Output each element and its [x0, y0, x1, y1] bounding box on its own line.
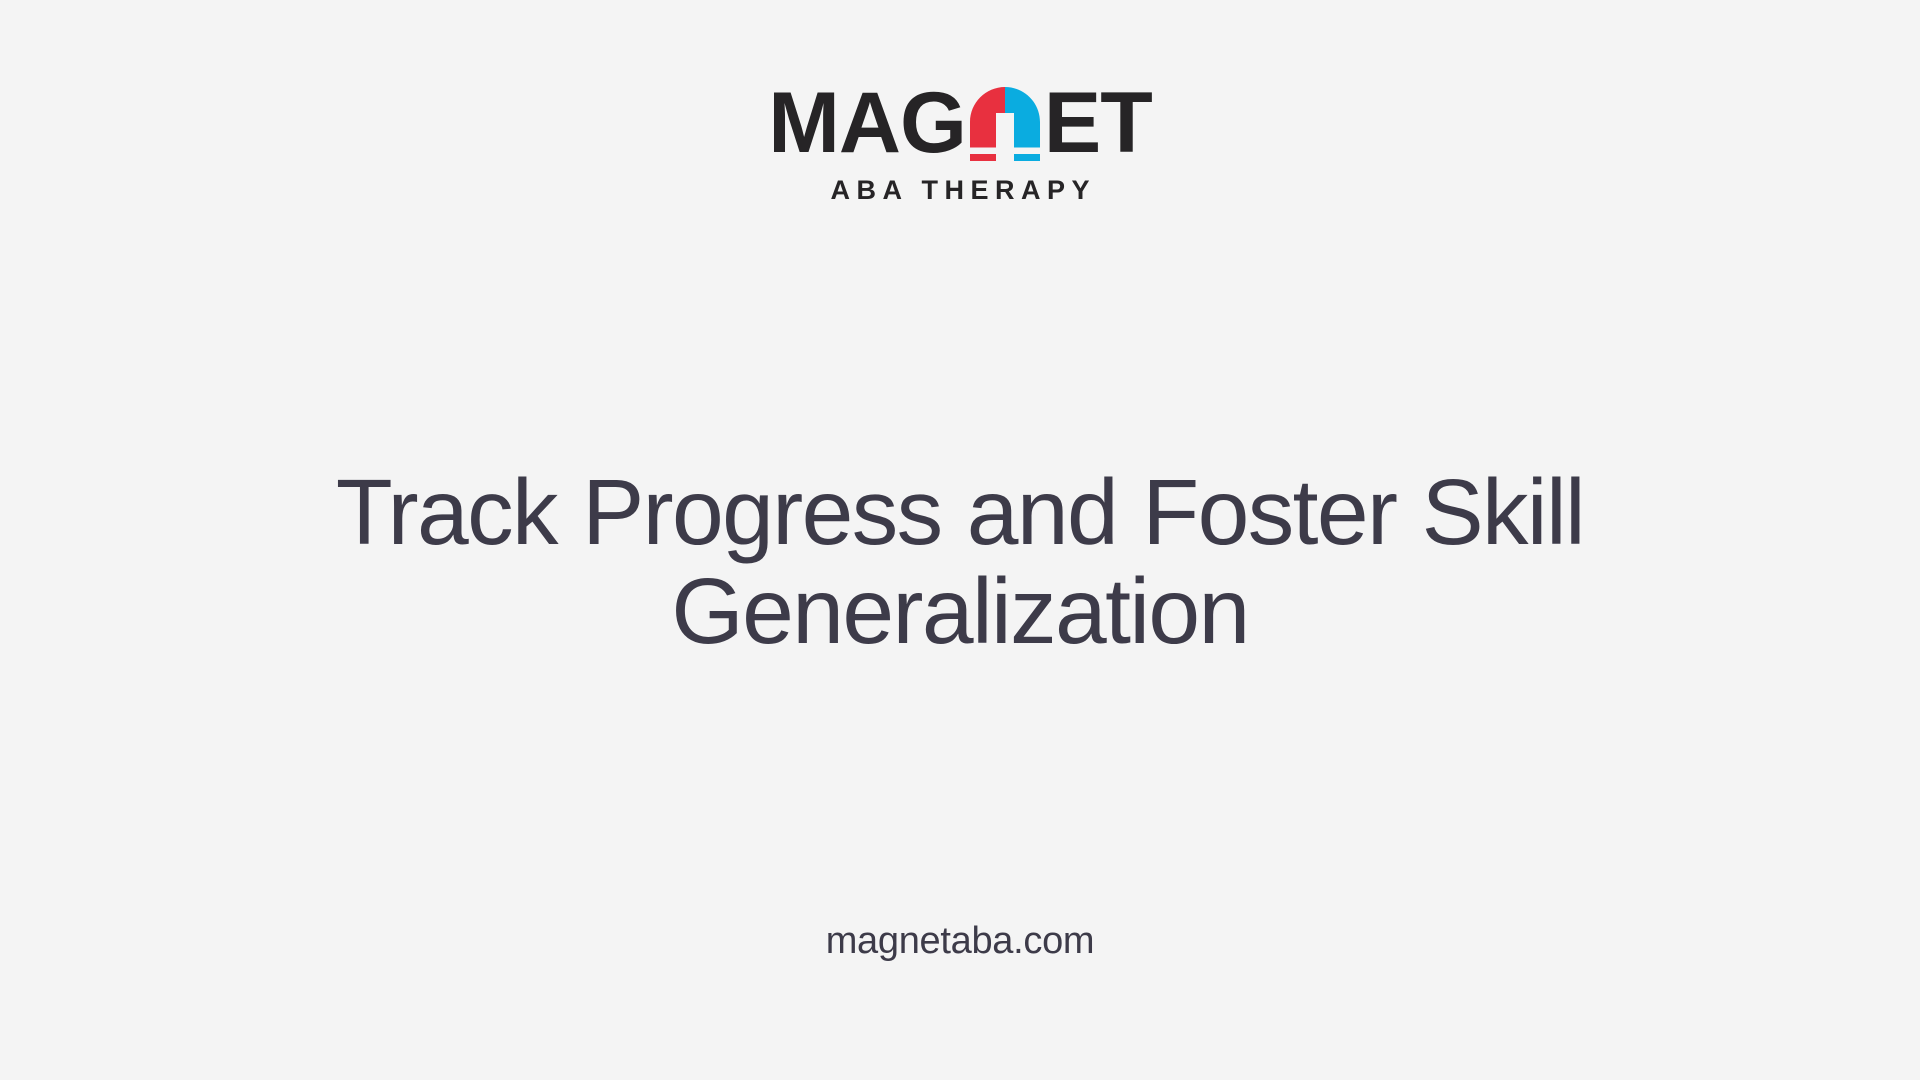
brand-logo[interactable]: MAG ET ABA THERAPY [0, 78, 1920, 206]
slide-canvas: MAG ET ABA THERAPY Track P [0, 0, 1920, 1080]
logo-wordmark-prefix: MAG [768, 86, 966, 162]
horseshoe-magnet-icon [969, 87, 1041, 161]
footer-website-url[interactable]: magnetaba.com [0, 920, 1920, 963]
logo-wordmark-suffix: ET [1044, 86, 1152, 162]
headline-line-1: Track Progress and Foster Skill [336, 460, 1584, 564]
page-title: Track Progress and Foster Skill Generali… [180, 463, 1740, 660]
headline-line-2: Generalization [671, 559, 1248, 663]
logo-tagline: ABA THERAPY [824, 175, 1096, 206]
logo-wordmark: MAG ET [768, 78, 1152, 162]
